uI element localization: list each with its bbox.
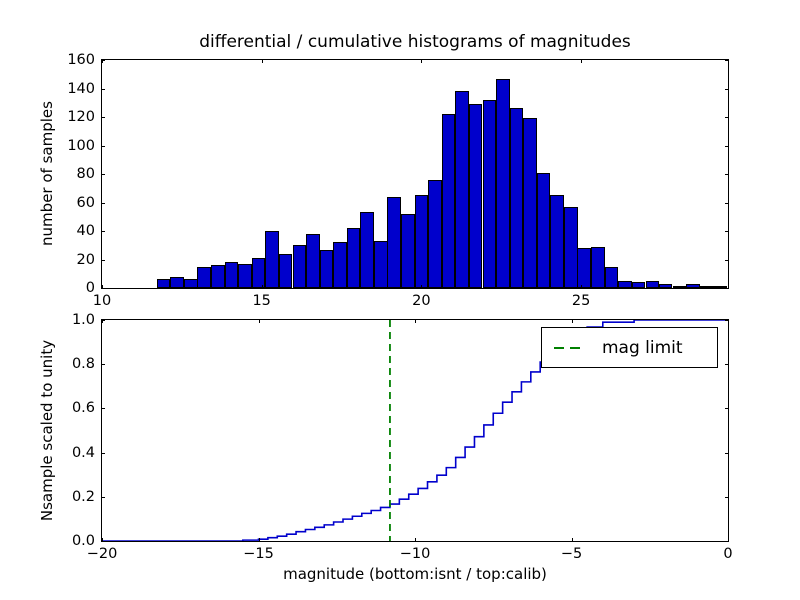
bottom-panel-xticklabel: −10 <box>400 546 431 562</box>
histogram-bar <box>496 79 510 288</box>
bottom-panel-yticklabel: 0.8 <box>43 356 95 372</box>
top-panel-ytick <box>101 260 105 261</box>
bottom-panel-xlabel: magnitude (bottom:isnt / top:calib) <box>101 565 729 583</box>
top-panel-xtick <box>421 285 422 289</box>
histogram-bar <box>333 242 347 288</box>
histogram-bar <box>184 279 198 288</box>
histogram-bar <box>700 286 714 288</box>
top-panel-yticklabel: 80 <box>43 166 95 182</box>
bottom-panel-yticklabel: 0.4 <box>43 445 95 461</box>
histogram-bar <box>564 207 578 288</box>
top-panel-yticklabel: 120 <box>43 109 95 125</box>
bottom-panel-ytick <box>101 497 105 498</box>
bottom-panel-xticklabel: 0 <box>723 546 732 562</box>
histogram-bar <box>442 114 456 288</box>
histogram-bar <box>537 173 551 288</box>
histogram-bar <box>483 100 497 288</box>
histogram-bar <box>279 254 293 288</box>
histogram-bar <box>632 282 646 288</box>
histogram-bar <box>401 214 415 288</box>
histogram-bar <box>428 180 442 288</box>
bottom-panel-ytick <box>101 453 105 454</box>
bottom-panel-ytick <box>101 320 105 321</box>
bottom-panel-yticklabel: 0.2 <box>43 489 95 505</box>
top-panel-xticklabel: 15 <box>252 293 270 309</box>
top-panel-yticklabel: 20 <box>43 252 95 268</box>
histogram-bar <box>659 284 673 288</box>
top-panel-axes <box>101 59 729 289</box>
top-panel-plot-area <box>102 60 728 288</box>
histogram-bar <box>673 286 687 288</box>
bottom-panel-ytick <box>101 541 105 542</box>
histogram-bar <box>605 267 619 288</box>
top-panel-ytick <box>725 117 729 118</box>
histogram-bar <box>211 265 225 288</box>
top-panel-ytick <box>725 146 729 147</box>
top-panel-ytick <box>725 260 729 261</box>
histogram-bar <box>238 264 252 288</box>
top-panel-ytick <box>101 89 105 90</box>
histogram-bar <box>618 281 632 288</box>
top-panel-ytick <box>101 146 105 147</box>
figure-title: differential / cumulative histograms of … <box>101 32 729 52</box>
top-panel-ytick <box>101 174 105 175</box>
top-panel-yticklabel: 60 <box>43 195 95 211</box>
bottom-panel-yticklabel: 1.0 <box>43 312 95 328</box>
legend-label-mag-limit: mag limit <box>602 338 683 358</box>
bottom-panel-yticklabel: 0.6 <box>43 400 95 416</box>
histogram-bar <box>265 231 279 288</box>
top-panel-ytick <box>101 60 105 61</box>
top-panel-xticklabel: 25 <box>572 293 590 309</box>
bottom-panel-ytick <box>725 497 729 498</box>
top-panel-ytick <box>725 288 729 289</box>
matplotlib-figure: differential / cumulative histograms of … <box>0 0 800 600</box>
top-panel-xtick <box>262 285 263 289</box>
histogram-bar <box>510 108 524 288</box>
bottom-panel-ytick <box>101 364 105 365</box>
top-panel-yticklabel: 140 <box>43 81 95 97</box>
histogram-bar <box>523 118 537 288</box>
histogram-bar <box>306 234 320 288</box>
top-panel-ytick <box>101 231 105 232</box>
top-panel-xtick <box>581 59 582 63</box>
bottom-panel-xtick <box>415 319 416 323</box>
top-panel-ytick <box>725 231 729 232</box>
bottom-panel-ytick <box>725 541 729 542</box>
bottom-panel-xtick <box>415 538 416 542</box>
legend[interactable]: mag limit <box>541 327 718 368</box>
histogram-bar <box>469 104 483 288</box>
histogram-bar <box>387 197 401 288</box>
top-panel-ytick <box>101 288 105 289</box>
top-panel-ytick <box>725 60 729 61</box>
histogram-bar <box>157 279 171 288</box>
histogram-bar <box>550 195 564 288</box>
top-panel-ytick <box>101 203 105 204</box>
histogram-bar <box>225 262 239 288</box>
mag-limit-line-icon <box>552 341 590 355</box>
histogram-bar <box>686 284 700 288</box>
top-panel-xticklabel: 10 <box>93 293 111 309</box>
bottom-panel-xtick <box>572 319 573 323</box>
bottom-panel-xtick <box>259 538 260 542</box>
top-panel-ytick <box>725 203 729 204</box>
bottom-panel-xtick <box>259 319 260 323</box>
top-panel-xtick <box>262 59 263 63</box>
top-panel-ytick <box>725 174 729 175</box>
histogram-bar <box>577 248 591 288</box>
histogram-bar <box>320 250 334 288</box>
top-panel-xticklabel: 20 <box>412 293 430 309</box>
histogram-bar <box>170 277 184 288</box>
histogram-bar <box>252 258 266 288</box>
histogram-bar <box>374 241 388 288</box>
bottom-panel-xtick <box>572 538 573 542</box>
histogram-bar <box>455 91 469 288</box>
top-panel-ytick <box>725 89 729 90</box>
histogram-bar <box>591 247 605 288</box>
histogram-bar <box>347 228 361 288</box>
bottom-panel-yticklabel: 0.0 <box>43 533 95 549</box>
bottom-panel-ytick <box>725 320 729 321</box>
top-panel-xtick <box>581 285 582 289</box>
histogram-bar <box>197 267 211 288</box>
histogram-bar <box>360 212 374 288</box>
top-panel-yticklabel: 160 <box>43 52 95 68</box>
top-panel-yticklabel: 0 <box>43 280 95 296</box>
bottom-panel-ytick <box>725 408 729 409</box>
top-panel-yticklabel: 100 <box>43 138 95 154</box>
bottom-panel-ylabel: Nsample scaled to unity <box>38 319 56 542</box>
bottom-panel-ytick <box>725 364 729 365</box>
top-panel-xtick <box>421 59 422 63</box>
bottom-panel-xticklabel: −5 <box>561 546 582 562</box>
top-panel-yticklabel: 40 <box>43 223 95 239</box>
top-panel-ytick <box>101 117 105 118</box>
histogram-bar <box>415 195 429 288</box>
bottom-panel-ytick <box>101 408 105 409</box>
bottom-panel-xticklabel: −15 <box>243 546 274 562</box>
histogram-bar <box>293 245 307 288</box>
bottom-panel-ytick <box>725 453 729 454</box>
histogram-bar <box>646 281 660 288</box>
